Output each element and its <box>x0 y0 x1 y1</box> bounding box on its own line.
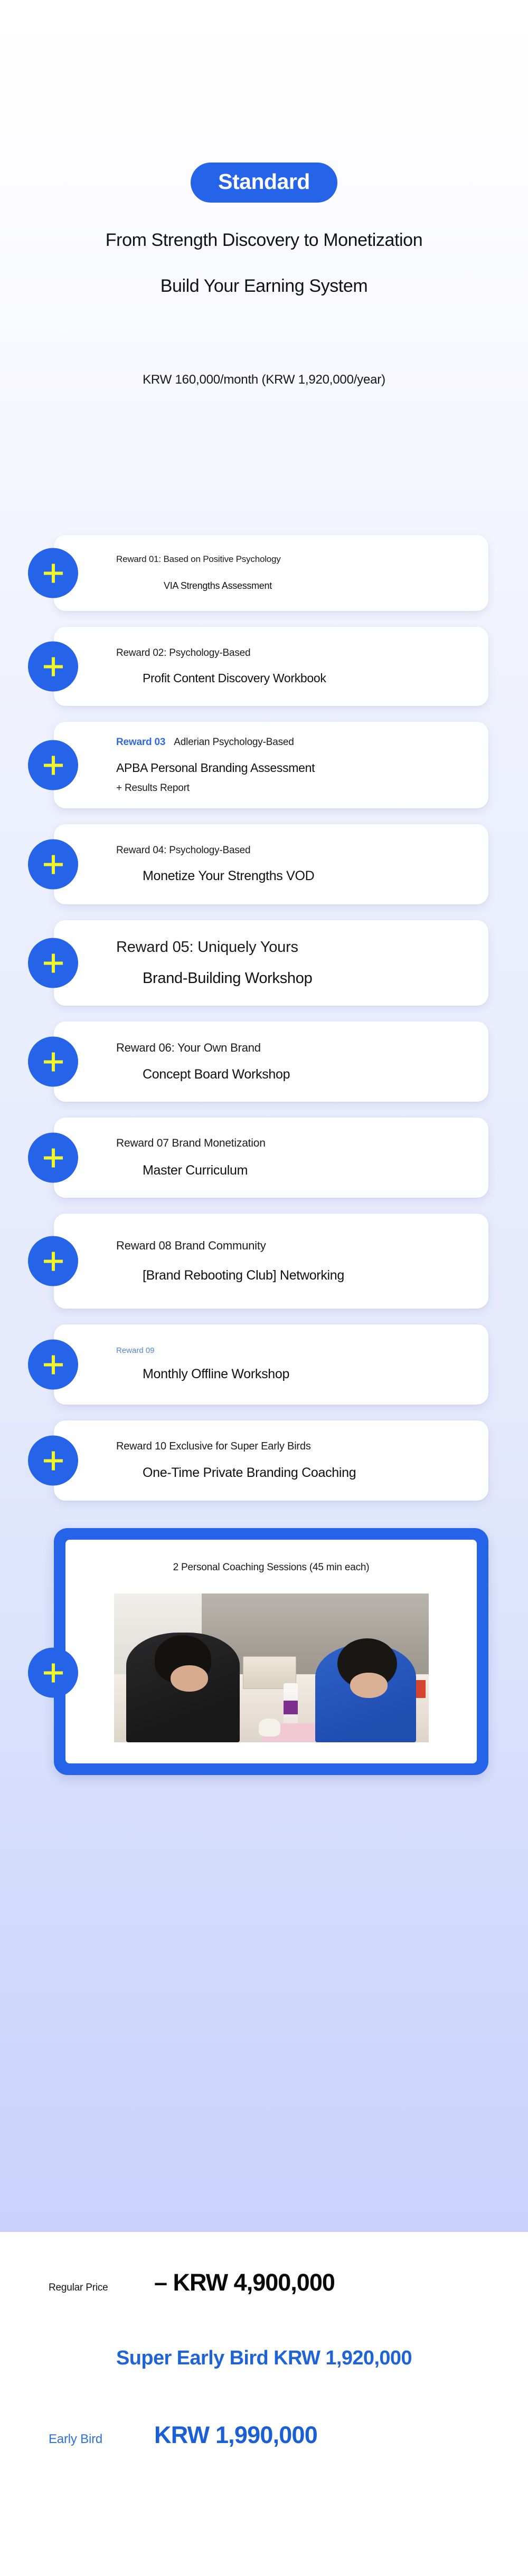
reward-card-08-title: Reward 08 Brand Community <box>84 1238 470 1254</box>
reward-card-09-subtitle: Monthly Offline Workshop <box>84 1366 470 1384</box>
regular-price-amount: – KRW 4,900,000 <box>154 2269 335 2296</box>
reward-row: Reward 01: Based on Positive Psychology … <box>0 535 528 611</box>
plus-icon[interactable] <box>28 1436 78 1486</box>
reward-card-04[interactable]: Reward 04: Psychology-Based Monetize You… <box>54 824 488 904</box>
reward-row: Reward 04: Psychology-Based Monetize You… <box>0 824 528 904</box>
rewards-list: Reward 01: Based on Positive Psychology … <box>0 535 528 1775</box>
hero-headline-2: Build Your Earning System <box>0 276 528 297</box>
hero-price-note: KRW 160,000/month (KRW 1,920,000/year) <box>0 373 528 387</box>
reward-card-07-title: Reward 07 Brand Monetization <box>84 1136 470 1151</box>
reward-row: Reward 10 Exclusive for Super Early Bird… <box>0 1420 528 1501</box>
early-bird-label: Early Bird <box>49 2432 154 2447</box>
plan-badge-standard[interactable]: Standard <box>191 163 337 203</box>
coaching-session-photo <box>114 1594 429 1742</box>
coaching-caption: 2 Personal Coaching Sessions (45 min eac… <box>76 1562 466 1573</box>
plus-icon[interactable] <box>28 938 78 988</box>
super-early-bird-text: Super Early Bird KRW 1,920,000 <box>116 2347 412 2370</box>
reward-card-06-title: Reward 06: Your Own Brand <box>84 1040 470 1056</box>
reward-card-08[interactable]: Reward 08 Brand Community [Brand Rebooti… <box>54 1214 488 1309</box>
reward-card-07-subtitle: Master Curriculum <box>84 1162 470 1180</box>
reward-card-05-subtitle: Brand-Building Workshop <box>84 968 470 989</box>
reward-card-06-subtitle: Concept Board Workshop <box>84 1066 470 1084</box>
plus-icon[interactable] <box>28 1340 78 1390</box>
regular-price-label: Regular Price <box>49 2282 154 2294</box>
early-bird-amount: KRW 1,990,000 <box>154 2421 317 2449</box>
super-early-bird-row: Super Early Bird KRW 1,920,000 <box>0 2347 528 2370</box>
reward-card-10[interactable]: Reward 10 Exclusive for Super Early Bird… <box>54 1420 488 1501</box>
reward-card-01-title: Reward 01: Based on Positive Psychology <box>84 554 470 566</box>
plus-icon[interactable] <box>28 839 78 890</box>
coaching-card-frame[interactable]: 2 Personal Coaching Sessions (45 min eac… <box>54 1528 488 1775</box>
reward-card-04-title: Reward 04: Psychology-Based <box>84 844 470 857</box>
reward-card-10-title: Reward 10 Exclusive for Super Early Bird… <box>84 1439 470 1454</box>
reward-card-02-title: Reward 02: Psychology-Based <box>84 646 470 660</box>
coaching-card-body: 2 Personal Coaching Sessions (45 min eac… <box>65 1540 477 1763</box>
plus-icon[interactable] <box>28 1037 78 1087</box>
reward-card-03-extra: + Results Report <box>84 781 470 795</box>
reward-card-01-subtitle: VIA Strengths Assessment <box>84 579 470 592</box>
plus-icon[interactable] <box>28 1133 78 1183</box>
pricing-landing-page: Standard From Strength Discovery to Mone… <box>0 0 528 2576</box>
reward-row: Reward 09 Monthly Offline Workshop <box>0 1324 528 1405</box>
reward-card-06[interactable]: Reward 06: Your Own Brand Concept Board … <box>54 1022 488 1102</box>
hero-section: Standard From Strength Discovery to Mone… <box>0 0 528 387</box>
plus-icon[interactable] <box>28 1236 78 1286</box>
reward-card-10-subtitle: One-Time Private Branding Coaching <box>84 1464 470 1482</box>
plan-badge-wrap: Standard <box>0 0 528 203</box>
reward-card-05[interactable]: Reward 05: Uniquely Yours Brand-Building… <box>54 920 488 1006</box>
reward-card-02[interactable]: Reward 02: Psychology-Based Profit Conte… <box>54 627 488 706</box>
reward-card-03-header: Reward 03 Adlerian Psychology-Based <box>84 736 470 749</box>
reward-card-04-subtitle: Monetize Your Strengths VOD <box>84 867 470 885</box>
pricing-section: Regular Price – KRW 4,900,000 Super Earl… <box>0 2269 528 2449</box>
plus-icon[interactable] <box>28 740 78 790</box>
coaching-row: 2 Personal Coaching Sessions (45 min eac… <box>0 1528 528 1775</box>
reward-row: Reward 07 Brand Monetization Master Curr… <box>0 1118 528 1198</box>
plus-icon[interactable] <box>28 548 78 598</box>
reward-card-03-title: Adlerian Psychology-Based <box>174 736 294 749</box>
reward-card-03[interactable]: Reward 03 Adlerian Psychology-Based APBA… <box>54 722 488 808</box>
reward-row: Reward 06: Your Own Brand Concept Board … <box>0 1022 528 1102</box>
reward-card-01[interactable]: Reward 01: Based on Positive Psychology … <box>54 535 488 611</box>
reward-card-09[interactable]: Reward 09 Monthly Offline Workshop <box>54 1324 488 1405</box>
reward-card-03-subtitle: APBA Personal Branding Assessment <box>84 760 470 776</box>
reward-row: Reward 02: Psychology-Based Profit Conte… <box>0 627 528 706</box>
reward-row: Reward 03 Adlerian Psychology-Based APBA… <box>0 722 528 808</box>
reward-card-09-tag: Reward 09 <box>84 1346 470 1355</box>
reward-card-07[interactable]: Reward 07 Brand Monetization Master Curr… <box>54 1118 488 1198</box>
plus-icon[interactable] <box>28 642 78 692</box>
hero-headline-1: From Strength Discovery to Monetization <box>0 230 528 251</box>
early-bird-row: Early Bird KRW 1,990,000 <box>0 2421 528 2449</box>
reward-row: Reward 05: Uniquely Yours Brand-Building… <box>0 920 528 1006</box>
reward-card-02-subtitle: Profit Content Discovery Workbook <box>84 670 470 686</box>
reward-card-05-title: Reward 05: Uniquely Yours <box>84 937 470 958</box>
reward-card-03-tag: Reward 03 <box>116 737 165 748</box>
reward-card-08-subtitle: [Brand Rebooting Club] Networking <box>84 1267 470 1285</box>
regular-price-row: Regular Price – KRW 4,900,000 <box>0 2269 528 2296</box>
plus-icon[interactable] <box>28 1648 78 1698</box>
reward-row: Reward 08 Brand Community [Brand Rebooti… <box>0 1214 528 1309</box>
